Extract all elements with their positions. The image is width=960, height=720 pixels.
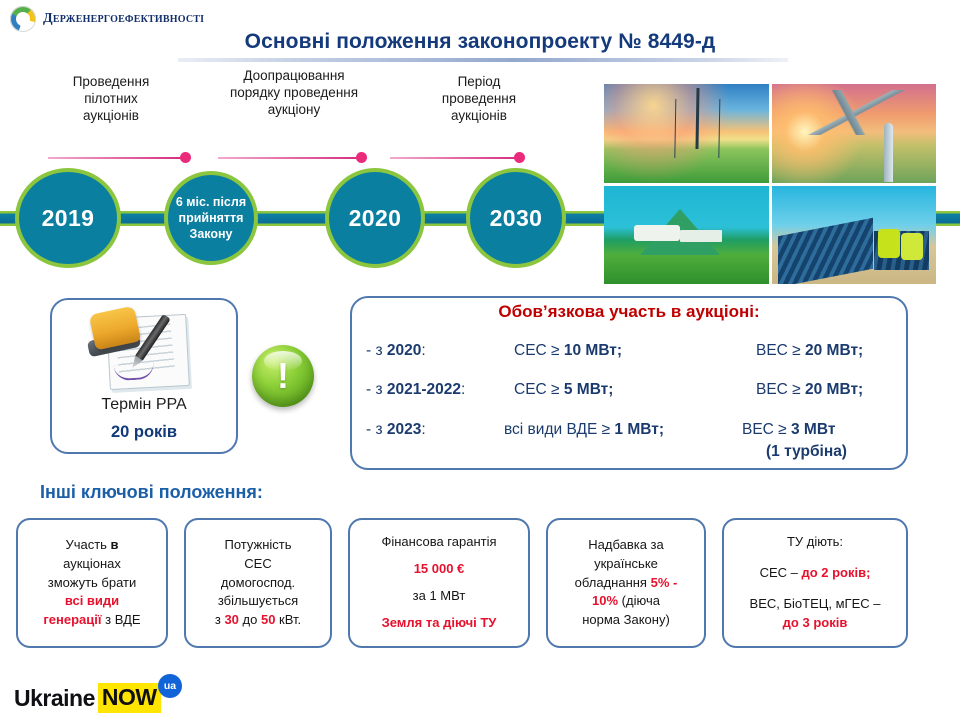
auction-row-2-period: - з 2021-2022: — [366, 381, 465, 399]
photo-biogas-plant — [604, 186, 769, 285]
box2-l5c: до — [239, 612, 261, 627]
auction-row-3-period: - з 2023: — [366, 421, 426, 439]
photo-worker-1 — [878, 229, 899, 259]
timeline-connector-1 — [48, 157, 182, 159]
auction-row-1-ves: ВЕС ≥ 20 МВт; — [756, 342, 863, 360]
org-logo: Держенергоефективності — [10, 6, 204, 32]
green-exclamation-icon: ! — [252, 345, 314, 407]
auction-row-3-ses: всі види ВДЕ ≥ 1 МВт; — [504, 421, 664, 439]
box4-line4: 10% (діюча — [592, 592, 660, 611]
box2-line5: з 30 до 50 кВт. — [215, 611, 301, 630]
box1-line2: аукціонах — [63, 555, 121, 574]
title-underline-rule — [178, 58, 788, 62]
box5-line2: СЕС – до 2 років; — [760, 564, 871, 583]
box2-line2: СЕС — [244, 555, 271, 574]
timeline-label-2-line3: аукціону — [196, 102, 392, 119]
auction-row-1-period-year: 2020 — [387, 342, 421, 359]
photo-power-lines — [604, 84, 769, 183]
timeline-node-note-line1: 6 міс. після — [176, 194, 246, 210]
timeline-node-2020[interactable]: 2020 — [325, 168, 425, 268]
org-logo-label: Держенергоефективності — [43, 11, 204, 27]
box2-l5e: кВт. — [275, 612, 301, 627]
grid-connection-terms-box[interactable]: ТУ діють: СЕС – до 2 років; ВЕС, БіоТЕЦ,… — [722, 518, 908, 648]
timeline-node-2020-label: 2020 — [349, 205, 402, 232]
auction-row-3-ves-pre: ВЕС ≥ — [742, 421, 791, 438]
box5-line1: ТУ діють: — [787, 533, 843, 552]
box3-line2: 15 000 € — [414, 560, 465, 579]
auction-row-3-ses-value: 1 МВт; — [614, 421, 664, 438]
ukraine-now-logo: Ukraine NOW ua — [14, 683, 161, 713]
auction-row-2-ves-value: 20 МВт; — [805, 381, 863, 398]
financial-guarantee-box[interactable]: Фінансова гарантія 15 000 € за 1 МВт Зем… — [348, 518, 530, 648]
timeline-label-1: Проведення пілотних аукціонів — [34, 74, 188, 125]
mandatory-auction-title: Обов’язкова участь в аукціоні: — [356, 302, 902, 322]
box2-line3: домогоспод. — [221, 574, 295, 593]
timeline-label-3-line1: Період — [400, 74, 558, 91]
auction-row-1-period-pre: - з — [366, 342, 387, 359]
auction-row-3-ves-value: 3 МВт — [791, 421, 835, 438]
auction-row-2-ses: СЕС ≥ 5 МВт; — [514, 381, 613, 399]
auction-row-1-ses: СЕС ≥ 10 МВт; — [514, 342, 622, 360]
timeline-label-1-line2: пілотних — [34, 91, 188, 108]
timeline-node-2030-label: 2030 — [490, 205, 543, 232]
auction-row-2-period-pre: - з — [366, 381, 387, 398]
box4-line3: обладнання 5% - — [575, 574, 678, 593]
box1-line5-a: генерації — [43, 612, 101, 627]
box5-l2a: СЕС – — [760, 565, 802, 580]
box4-l4a: 10% — [592, 593, 618, 608]
auction-row-2-ves: ВЕС ≥ 20 МВт; — [756, 381, 863, 399]
photo-solar-installers — [772, 186, 937, 285]
document-stamp-pen-icon — [86, 306, 202, 392]
auction-row-2-period-post: : — [461, 381, 465, 398]
timeline-node-note-line2: прийняття — [176, 210, 246, 226]
box4-l3a: обладнання — [575, 575, 651, 590]
exclamation-glyph: ! — [252, 345, 314, 407]
box1-line3: зможуть брати — [48, 574, 137, 593]
auction-row-1-ses-value: 10 МВт; — [564, 342, 622, 359]
timeline-label-1-line1: Проведення — [34, 74, 188, 91]
auction-row-3-period-post: : — [421, 421, 425, 438]
timeline-node-note-line3: Закону — [176, 226, 246, 242]
timeline-dot-3 — [514, 152, 525, 163]
timeline-label-1-line3: аукціонів — [34, 108, 188, 125]
timeline-node-2019[interactable]: 2019 — [15, 168, 121, 268]
timeline-node-2030[interactable]: 2030 — [466, 168, 566, 268]
box5-l2b: до 2 років; — [801, 565, 870, 580]
timeline-label-2-line1: Доопрацювання — [196, 68, 392, 85]
box1-line1: Участь в — [65, 536, 118, 555]
photo-collage — [604, 84, 936, 284]
auction-row-1-period: - з 2020: — [366, 342, 426, 360]
box5-line4: до 3 років — [783, 614, 848, 633]
auction-row-1-ses-pre: СЕС ≥ — [514, 342, 564, 359]
auction-row-2-ves-pre: ВЕС ≥ — [756, 381, 805, 398]
timeline-node-six-months[interactable]: 6 міс. після прийняття Закону — [164, 171, 258, 265]
timeline-label-3-line2: проведення — [400, 91, 558, 108]
box2-line1: Потужність — [224, 536, 291, 555]
auction-row-1-ves-value: 20 МВт; — [805, 342, 863, 359]
auction-participation-box[interactable]: Участь в аукціонах зможуть брати всі вид… — [16, 518, 168, 648]
auction-row-3-period-year: 2023 — [387, 421, 421, 438]
auction-row-3-period-pre: - з — [366, 421, 387, 438]
slide-canvas: Держенергоефективності Основні положення… — [0, 0, 960, 720]
saee-emblem-icon — [10, 6, 36, 32]
box4-l3b: 5% - — [651, 575, 678, 590]
auction-row-1-ves-pre: ВЕС ≥ — [756, 342, 805, 359]
box3-line3: за 1 МВт — [413, 587, 466, 606]
timeline-label-3: Період проведення аукціонів — [400, 74, 558, 125]
box1-line5: генерації з ВДЕ — [43, 611, 140, 630]
box1-line4: всі види — [65, 592, 119, 611]
timeline-node-2019-label: 2019 — [42, 205, 95, 232]
timeline-dot-1 — [180, 152, 191, 163]
brand-word-ukraine: Ukraine — [14, 685, 95, 712]
auction-row-2-ses-value: 5 МВт; — [564, 381, 614, 398]
page-title: Основні положення законопроекту № 8449-д — [0, 30, 960, 54]
box2-line4: збільшується — [218, 592, 298, 611]
timeline-connector-2 — [218, 157, 360, 159]
photo-wind-turbine — [772, 84, 937, 183]
box4-l4b: (діюча — [618, 593, 660, 608]
auction-row-3-ves-note: (1 турбіна) — [766, 443, 847, 461]
box2-l5b: 30 — [224, 612, 238, 627]
box4-line2: українське — [594, 555, 658, 574]
other-provisions-title: Інші ключові положення: — [40, 482, 263, 503]
box5-line3: ВЕС, БіоТЕЦ, мГЕС – — [750, 595, 881, 614]
timeline-label-2: Доопрацювання порядку проведення аукціон… — [196, 68, 392, 119]
household-ses-capacity-box[interactable]: Потужність СЕС домогоспод. збільшується … — [184, 518, 332, 648]
box3-line4: Земля та діючі ТУ — [382, 614, 497, 633]
box2-l5d: 50 — [261, 612, 275, 627]
timeline-connector-3 — [390, 157, 518, 159]
auction-row-2-ses-pre: СЕС ≥ — [514, 381, 564, 398]
auction-row-2-period-year: 2021-2022 — [387, 381, 461, 398]
box4-line5: норма Закону) — [582, 611, 670, 630]
local-equipment-bonus-box[interactable]: Надбавка за українське обладнання 5% - 1… — [546, 518, 706, 648]
brand-word-now: NOW — [98, 683, 161, 713]
timeline-dot-2 — [356, 152, 367, 163]
box1-line1-b: в — [111, 537, 119, 552]
ppa-term-value: 20 років — [58, 423, 230, 442]
timeline-label-3-line3: аукціонів — [400, 108, 558, 125]
photo-worker-2 — [901, 233, 922, 261]
box4-line1: Надбавка за — [588, 536, 664, 555]
brand-badge-ua: ua — [158, 674, 182, 698]
box3-line1: Фінансова гарантія — [381, 533, 496, 552]
auction-row-3-ves: ВЕС ≥ 3 МВт — [742, 421, 835, 439]
box1-line1-a: Участь — [65, 537, 110, 552]
ppa-term-label: Термін PPA — [58, 396, 230, 414]
auction-row-3-ses-pre: всі види ВДЕ ≥ — [504, 421, 614, 438]
auction-row-1-period-post: : — [421, 342, 425, 359]
timeline-label-2-line2: порядку проведення — [196, 85, 392, 102]
box1-line5-b: з ВДЕ — [102, 612, 141, 627]
